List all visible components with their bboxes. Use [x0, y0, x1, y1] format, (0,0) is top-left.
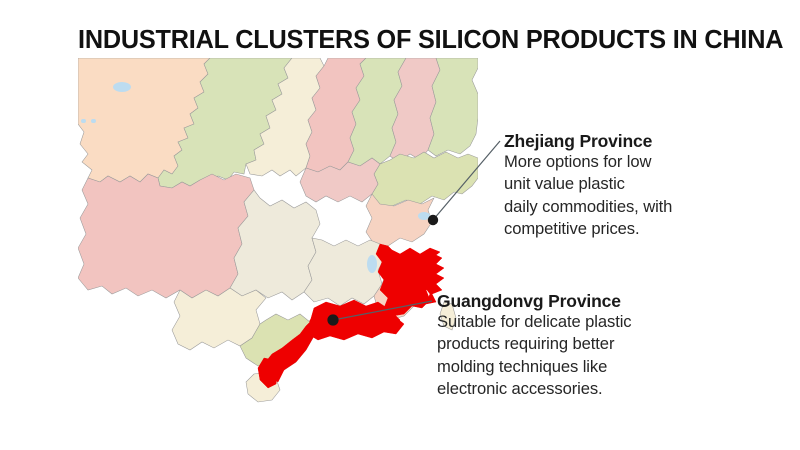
callout-guangdong-line-1: Suitable for delicate plastic: [437, 311, 719, 333]
callout-zhejiang-line-2: unit value plastic: [504, 173, 718, 195]
lake-small-2: [91, 119, 96, 123]
province-shandong: [372, 152, 478, 206]
callout-zhejiang-line-3: daily commodities, with: [504, 196, 718, 218]
lake-small-1: [81, 119, 86, 123]
province-qinghai-tibet: [78, 174, 254, 298]
map-provinces: [78, 58, 478, 402]
callout-guangdong-body: Suitable for delicate plastic products r…: [437, 311, 719, 401]
callout-zhejiang-line-1: More options for low: [504, 151, 718, 173]
callout-zhejiang-body: More options for low unit value plastic …: [504, 151, 718, 241]
callout-guangdong-line-2: products requiring better: [437, 333, 719, 355]
callout-guangdong: Guangdonvg Province Suitable for delicat…: [437, 291, 719, 401]
lake-bosten: [113, 82, 131, 92]
callout-guangdong-title: Guangdonvg Province: [437, 291, 719, 311]
china-provinces-map: [78, 58, 478, 418]
lake-taihu: [418, 212, 430, 220]
callout-zhejiang-title: Zhejiang Province: [504, 131, 718, 151]
lake-poyang: [367, 255, 377, 273]
callout-guangdong-line-3: molding techniques like: [437, 356, 719, 378]
callout-zhejiang: Zhejiang Province More options for low u…: [504, 131, 718, 241]
page-title: INDUSTRIAL CLUSTERS OF SILICON PRODUCTS …: [78, 26, 751, 55]
infographic-page: INDUSTRIAL CLUSTERS OF SILICON PRODUCTS …: [0, 0, 800, 450]
callout-guangdong-line-4: electronic accessories.: [437, 378, 719, 400]
callout-zhejiang-line-4: competitive prices.: [504, 218, 718, 240]
